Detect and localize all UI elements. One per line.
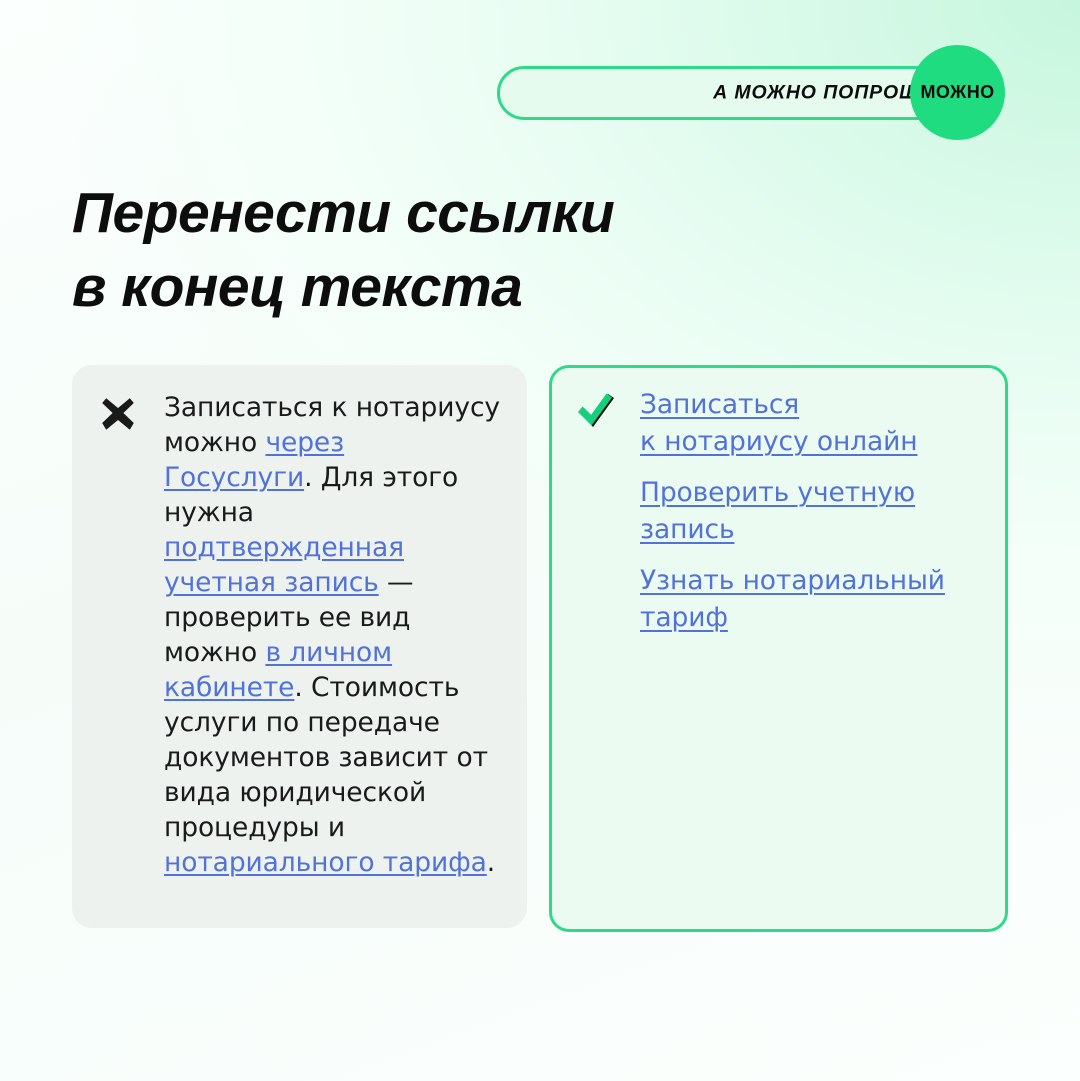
inline-text: . bbox=[487, 847, 495, 878]
inline-link[interactable]: подтвержденная учетная запись bbox=[164, 532, 404, 598]
list-link[interactable]: Проверить учетную запись bbox=[640, 474, 986, 548]
cross-icon bbox=[100, 390, 142, 880]
card-good-links: Записаться к нотариусу онлайнПроверить у… bbox=[640, 386, 986, 636]
card-good-example: Записаться к нотариусу онлайнПроверить у… bbox=[549, 365, 1008, 932]
list-link[interactable]: Записаться к нотариусу онлайн bbox=[640, 386, 986, 460]
comparison-cards: Записаться к нотариусу можно через Госус… bbox=[0, 0, 1080, 1081]
slide-canvas: А МОЖНО ПОПРОЩЕ? МОЖНО Перенести ссылки … bbox=[0, 0, 1080, 1081]
card-bad-text: Записаться к нотариусу можно через Госус… bbox=[164, 390, 500, 880]
inline-link[interactable]: нотариального тарифа bbox=[164, 847, 487, 878]
checkmark-icon bbox=[576, 386, 618, 636]
card-bad-example: Записаться к нотариусу можно через Госус… bbox=[72, 365, 527, 928]
list-link[interactable]: Узнать нотариальный тариф bbox=[640, 562, 986, 636]
